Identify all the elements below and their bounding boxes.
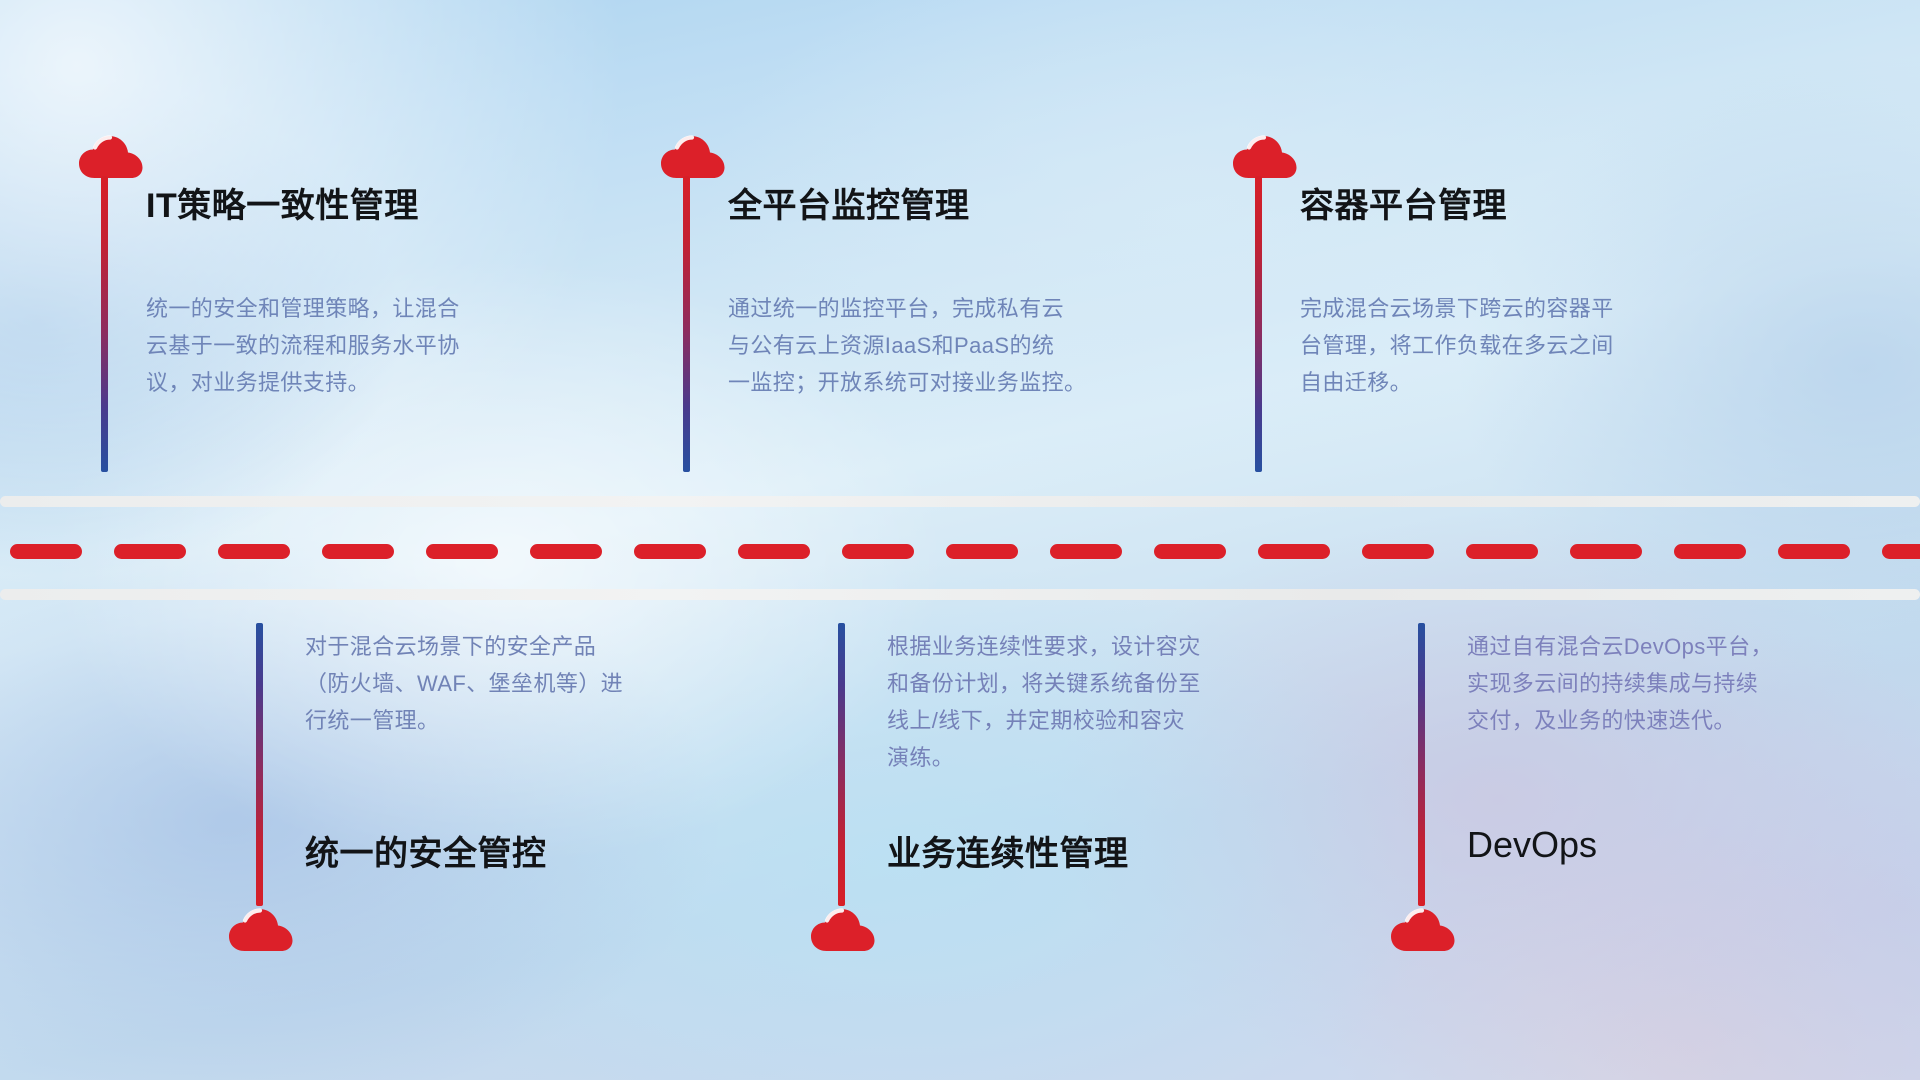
connector-stem <box>256 623 263 906</box>
road-dash <box>114 544 186 559</box>
capability-description: 根据业务连续性要求，设计容灾 和备份计划，将关键系统备份至 线上/线下，并定期校… <box>887 628 1267 776</box>
capability-title: IT策略一致性管理 <box>146 178 419 227</box>
capability-title: DevOps <box>1467 824 1597 866</box>
connector-stem <box>1255 176 1262 472</box>
road-dash <box>738 544 810 559</box>
cloud-icon <box>78 130 144 180</box>
road-dash <box>10 544 82 559</box>
road-dash <box>1570 544 1642 559</box>
capability-description: 通过自有混合云DevOps平台， 实现多云间的持续集成与持续 交付，及业务的快速… <box>1467 628 1847 739</box>
capability-title: 全平台监控管理 <box>728 178 970 227</box>
road-dash <box>1258 544 1330 559</box>
road-dash <box>1882 544 1920 559</box>
road-rail-bottom <box>0 589 1920 600</box>
capability-description: 对于混合云场景下的安全产品 （防火墙、WAF、堡垒机等）进 行统一管理。 <box>305 628 665 739</box>
cloud-icon <box>810 903 876 953</box>
road-dashed-centerline <box>0 543 1920 559</box>
cloud-icon <box>660 130 726 180</box>
road-dash <box>842 544 914 559</box>
cloud-icon <box>1390 903 1456 953</box>
capability-description: 统一的安全和管理策略，让混合 云基于一致的流程和服务水平协 议，对业务提供支持。 <box>146 290 506 401</box>
capability-description: 完成混合云场景下跨云的容器平 台管理，将工作负载在多云之间 自由迁移。 <box>1300 290 1680 401</box>
cloud-icon <box>228 903 294 953</box>
road-dash <box>1154 544 1226 559</box>
connector-stem <box>838 623 845 906</box>
road-dash <box>1362 544 1434 559</box>
road-dash <box>634 544 706 559</box>
road-dash <box>322 544 394 559</box>
connector-stem <box>101 176 108 472</box>
road-dash <box>1778 544 1850 559</box>
road-dash <box>1466 544 1538 559</box>
connector-stem <box>683 176 690 472</box>
road-dash <box>1674 544 1746 559</box>
road-dash <box>218 544 290 559</box>
connector-stem <box>1418 623 1425 906</box>
road-dash <box>946 544 1018 559</box>
cloud-icon <box>1232 130 1298 180</box>
capability-title: 容器平台管理 <box>1300 178 1507 227</box>
road-rail-top <box>0 496 1920 507</box>
road-dash <box>426 544 498 559</box>
capability-description: 通过统一的监控平台，完成私有云 与公有云上资源IaaS和PaaS的统 一监控；开… <box>728 290 1120 401</box>
capability-title: 统一的安全管控 <box>305 826 547 875</box>
capability-title: 业务连续性管理 <box>887 826 1129 875</box>
road-dash <box>530 544 602 559</box>
road-dash <box>1050 544 1122 559</box>
